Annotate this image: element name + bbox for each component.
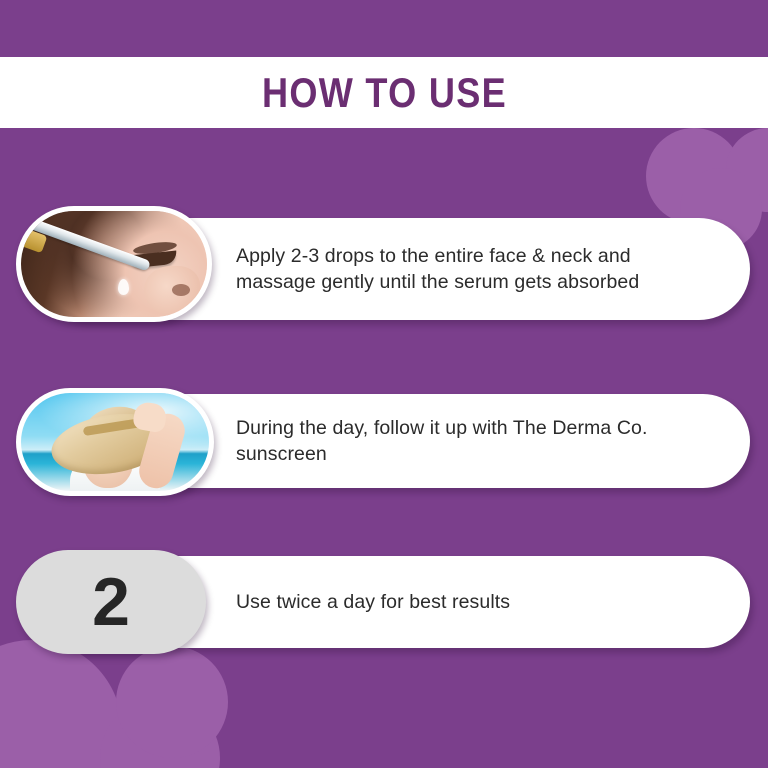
decorative-circle-top-right-2 — [726, 128, 768, 212]
step-text: Use twice a day for best results — [236, 589, 710, 615]
thumbnail-image — [21, 393, 209, 491]
serum-droplet-icon — [118, 279, 129, 295]
dropper-icon — [27, 217, 151, 271]
how-to-use-poster: HOW TO USE Apply 2-3 drops to the entire… — [0, 0, 768, 768]
decorative-circle-bottom-left-1 — [0, 640, 122, 768]
face-photo-illustration — [21, 211, 207, 317]
steps-list: Apply 2-3 drops to the entire face & nec… — [0, 206, 768, 654]
list-item: Use twice a day for best results 2 — [0, 548, 768, 654]
step-thumbnail-sun-protection — [16, 388, 214, 496]
decorative-circle-bottom-left-2 — [100, 698, 220, 768]
step-thumbnail-serum-dropper — [16, 206, 212, 322]
step-text: During the day, follow it up with The De… — [236, 415, 710, 467]
decorative-circle-bottom-left-3 — [116, 646, 228, 758]
list-item: Apply 2-3 drops to the entire face & nec… — [0, 206, 768, 330]
thumbnail-image — [21, 211, 207, 317]
beach-photo-illustration — [21, 393, 209, 491]
step-text: Apply 2-3 drops to the entire face & nec… — [236, 243, 710, 295]
badge-label: 2 — [92, 568, 130, 636]
step-number-badge: 2 — [16, 550, 206, 654]
list-item: During the day, follow it up with The De… — [0, 386, 768, 496]
header-banner: HOW TO USE — [0, 57, 768, 128]
page-title: HOW TO USE — [261, 72, 506, 114]
